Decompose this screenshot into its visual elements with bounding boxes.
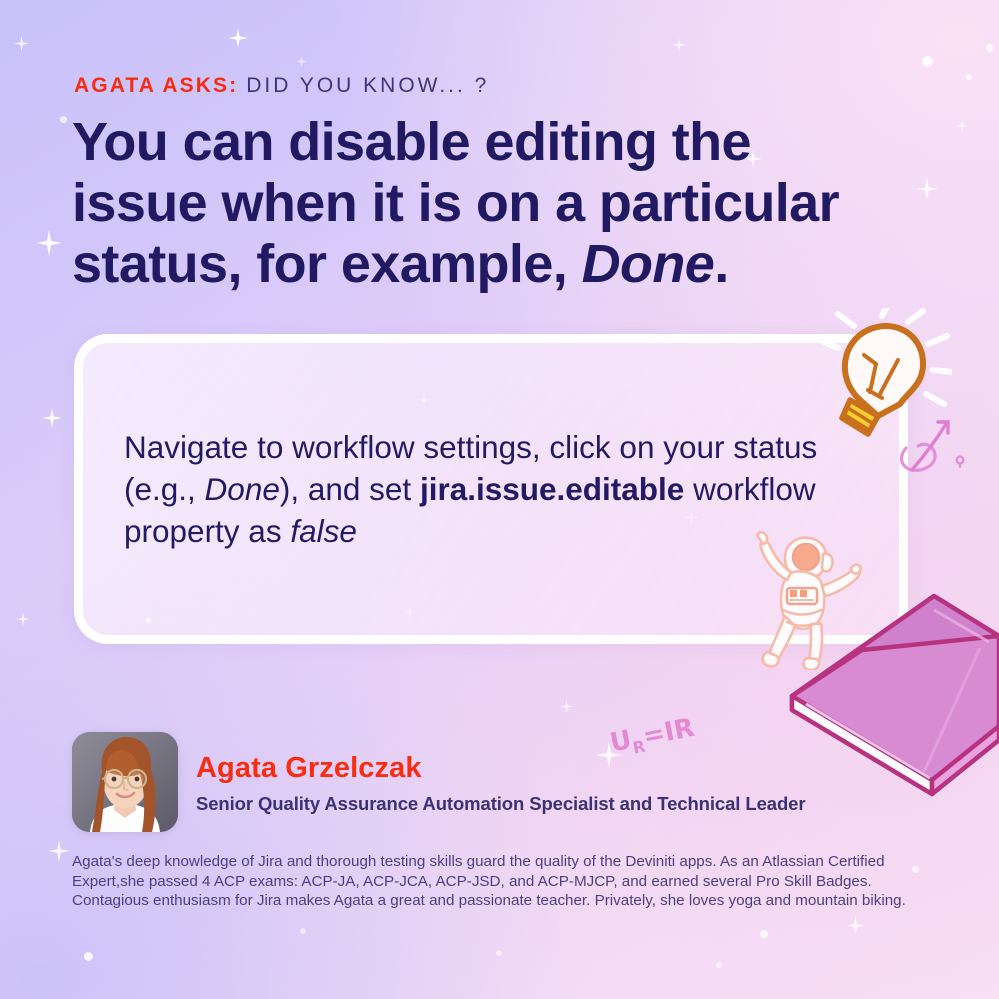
answer-emphasis-false: false <box>290 513 357 549</box>
answer-segment-3: ), and set <box>280 471 420 507</box>
answer-property-key: jira.issue.editable <box>420 471 684 507</box>
formula-u: U <box>608 725 634 758</box>
headline-line-1: You can disable editing the <box>72 112 751 172</box>
author-name: Agata Grzelczak <box>196 752 422 785</box>
sparkle-icon <box>42 408 62 428</box>
headline-emphasis-done: Done <box>582 234 715 294</box>
sparkle-icon <box>956 120 968 132</box>
headline-line-3-suffix: . <box>714 234 728 294</box>
eyebrow-line: AGATA ASKS: DID YOU KNOW... ? <box>74 74 489 98</box>
dot-decoration <box>966 74 972 80</box>
sparkle-icon <box>36 230 62 256</box>
sparkle-icon <box>672 38 686 52</box>
dot-decoration <box>84 952 93 961</box>
author-role: Senior Quality Assurance Automation Spec… <box>196 793 805 815</box>
sparkle-icon <box>560 700 573 713</box>
poster-canvas: AGATA ASKS: DID YOU KNOW... ? You can di… <box>0 0 999 999</box>
dot-decoration <box>716 962 722 968</box>
dot-decoration <box>300 928 306 934</box>
headline-line-2: issue when it is on a particular <box>72 173 839 233</box>
dot-decoration <box>922 56 933 67</box>
dot-decoration <box>496 950 502 956</box>
orbit-arrow-icon <box>898 418 994 510</box>
question-label: DID YOU KNOW... ? <box>246 74 489 97</box>
formula-doodle: UR=IR <box>608 708 727 784</box>
page-title: You can disable editing the issue when i… <box>72 112 912 295</box>
avatar <box>72 732 178 832</box>
sparkle-icon <box>14 36 29 51</box>
sparkle-icon <box>916 178 938 200</box>
sparkle-icon <box>48 840 70 862</box>
brand-label: AGATA ASKS: <box>74 74 238 97</box>
headline-line-3-prefix: status, for example, <box>72 234 582 294</box>
sparkle-icon <box>296 56 307 67</box>
dot-decoration <box>760 930 768 938</box>
sparkle-icon <box>228 28 248 48</box>
dot-decoration <box>60 116 67 123</box>
dot-decoration <box>986 44 994 52</box>
sparkle-icon <box>16 612 30 626</box>
author-bio: Agata's deep knowledge of Jira and thoro… <box>72 852 924 911</box>
sparkle-icon <box>846 916 865 935</box>
book-icon <box>784 588 999 800</box>
answer-emphasis-done: Done <box>205 471 280 507</box>
formula-rest: =IR <box>641 713 697 752</box>
